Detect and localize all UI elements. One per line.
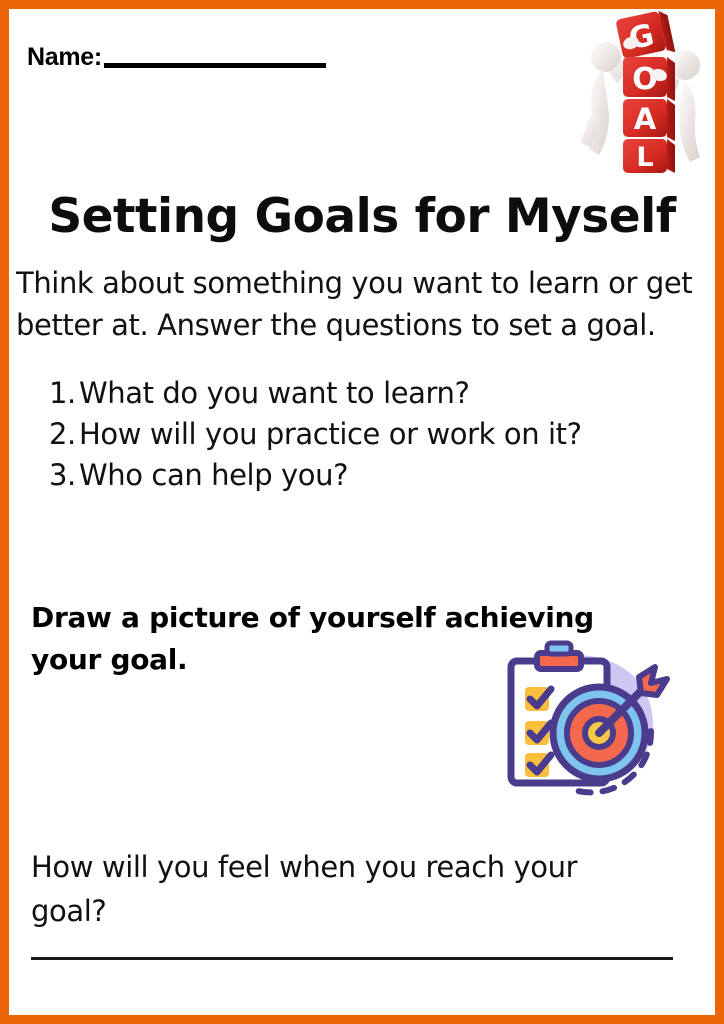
list-item: 2. How will you practice or work on it? xyxy=(49,414,669,455)
feel-question: How will you feel when you reach your go… xyxy=(31,846,641,933)
worksheet-page: Name: xyxy=(0,0,724,1024)
list-item: 3. Who can help you? xyxy=(49,455,669,496)
svg-text:A: A xyxy=(634,102,657,136)
question-text: Who can help you? xyxy=(79,455,601,496)
arrow-fletching xyxy=(639,667,667,695)
page-border-right xyxy=(715,0,724,1024)
name-write-in-line[interactable] xyxy=(104,63,326,68)
goal-block-a: A xyxy=(623,99,675,141)
list-item: 1. What do you want to learn? xyxy=(49,373,669,414)
question-number: 2. xyxy=(49,414,79,455)
goal-block-l: L xyxy=(623,139,675,173)
question-text: How will you practice or work on it? xyxy=(79,414,601,455)
question-text: What do you want to learn? xyxy=(79,373,601,414)
answer-write-in-line[interactable] xyxy=(31,957,673,960)
svg-text:L: L xyxy=(636,142,653,173)
page-border-top xyxy=(0,0,724,9)
svg-text:O: O xyxy=(632,62,658,97)
questions-list: 1. What do you want to learn? 2. How wil… xyxy=(49,373,669,497)
name-label: Name: xyxy=(27,45,102,70)
question-number: 1. xyxy=(49,373,79,414)
question-number: 3. xyxy=(49,455,79,496)
page-border-left xyxy=(0,0,9,1024)
name-field-row: Name: xyxy=(27,45,326,70)
page-title: Setting Goals for Myself xyxy=(9,192,715,241)
target-clipboard-icon xyxy=(479,639,679,799)
intro-paragraph: Think about something you want to learn … xyxy=(16,262,706,346)
goal-block-o: O xyxy=(623,57,675,101)
page-border-bottom xyxy=(0,1015,724,1024)
goal-blocks-icon: G O A L xyxy=(579,9,711,174)
worksheet-content: Name: xyxy=(9,9,715,1015)
goal-block-g: G xyxy=(615,9,675,63)
